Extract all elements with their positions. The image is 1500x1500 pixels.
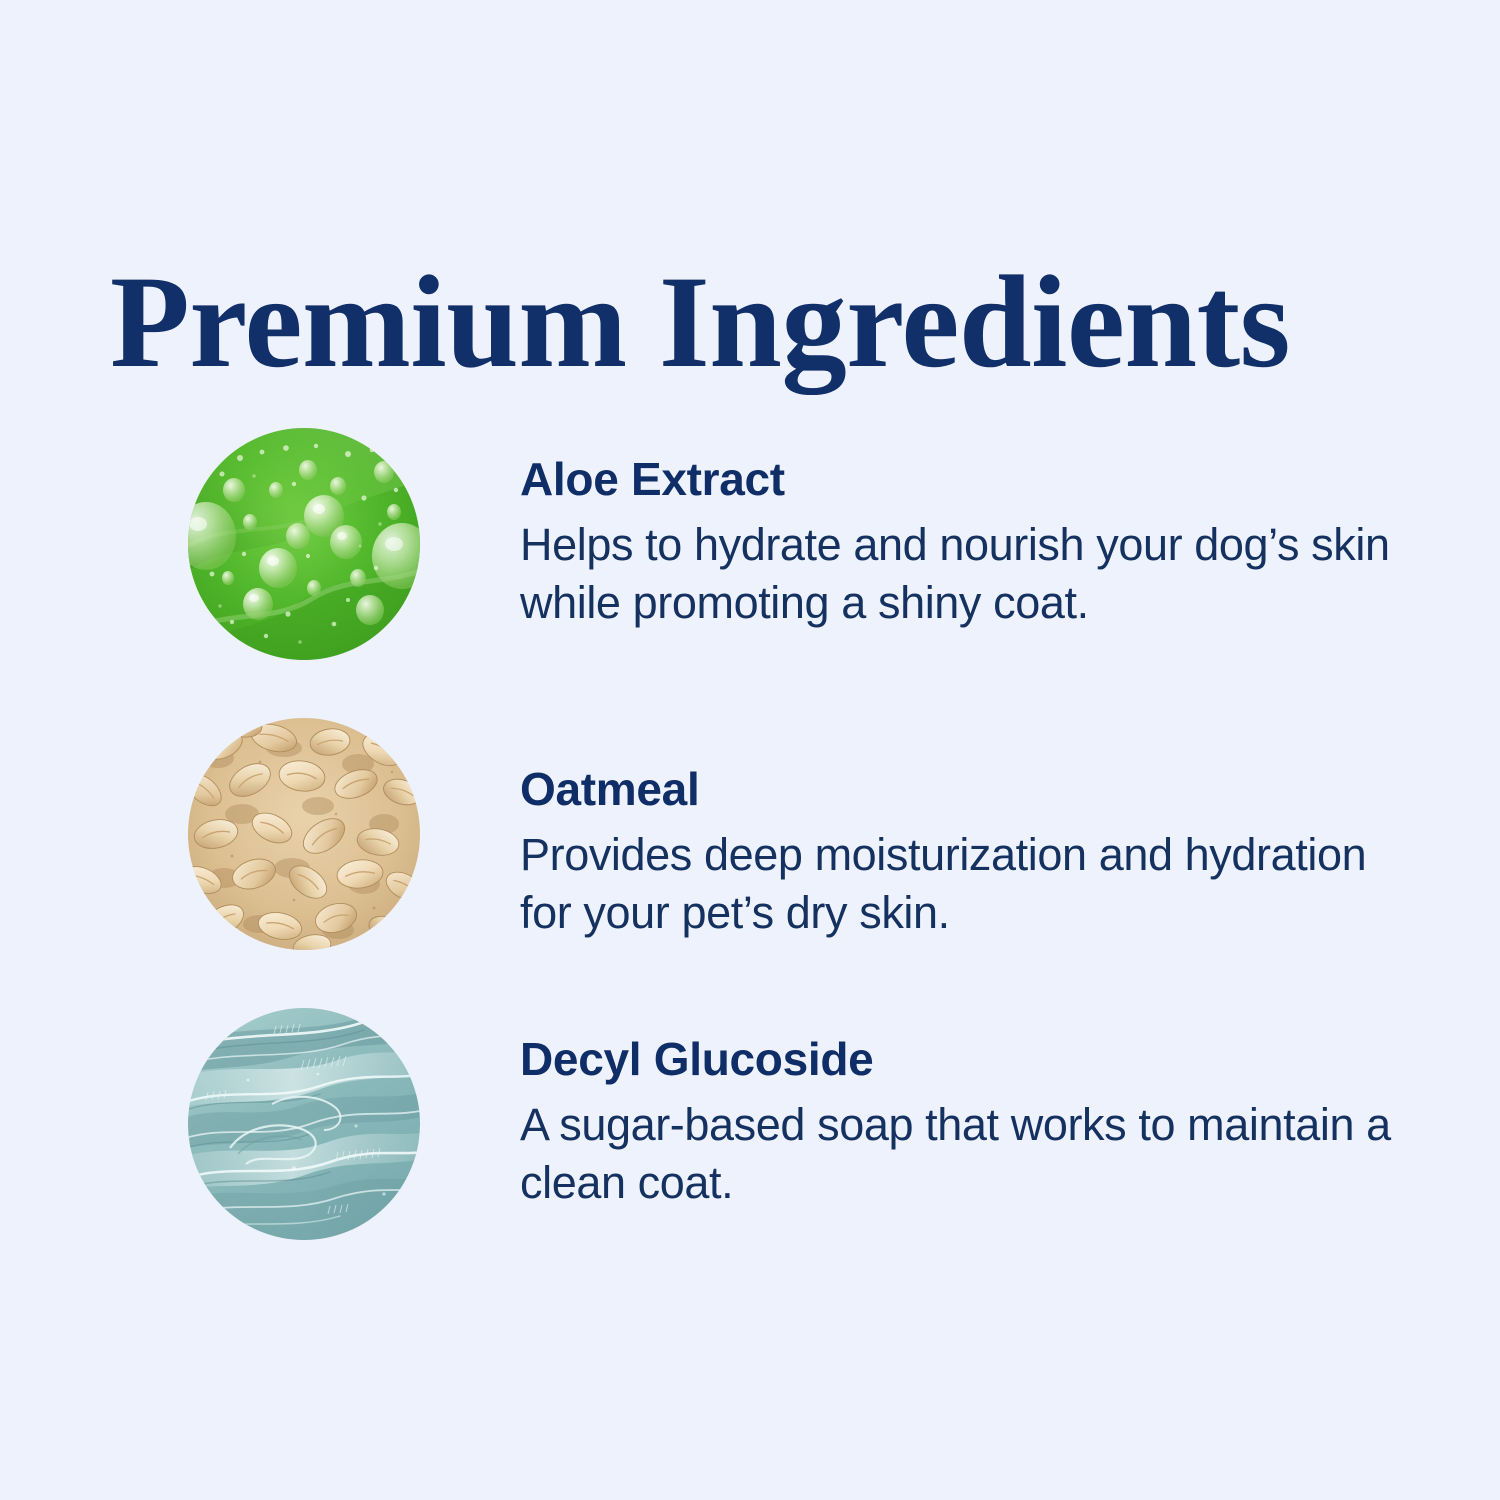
rolled-oats-photo xyxy=(188,718,420,950)
list-item: Decyl Glucoside A sugar-based soap that … xyxy=(0,1008,1500,1240)
ingredient-description: Provides deep moisturization and hydrati… xyxy=(520,826,1410,942)
ingredient-name: Aloe Extract xyxy=(520,456,1420,502)
page-title: Premium Ingredients xyxy=(110,256,1348,388)
list-item: Aloe Extract Helps to hydrate and nouris… xyxy=(0,428,1500,660)
ingredient-description: Helps to hydrate and nourish your dog’s … xyxy=(520,516,1410,632)
ingredient-text-block: Decyl Glucoside A sugar-based soap that … xyxy=(520,1036,1420,1212)
ingredient-name: Oatmeal xyxy=(520,766,1420,812)
aloe-leaf-water-droplets-photo xyxy=(188,428,420,660)
ingredient-list: Aloe Extract Helps to hydrate and nouris… xyxy=(0,428,1500,1240)
teal-gel-texture-photo xyxy=(188,1008,420,1240)
ingredient-description: A sugar-based soap that works to maintai… xyxy=(520,1096,1410,1212)
ingredient-name: Decyl Glucoside xyxy=(520,1036,1420,1082)
ingredient-text-block: Oatmeal Provides deep moisturization and… xyxy=(520,766,1420,942)
list-item: Oatmeal Provides deep moisturization and… xyxy=(0,718,1500,950)
premium-ingredients-page: Premium Ingredients xyxy=(0,0,1500,1500)
ingredient-text-block: Aloe Extract Helps to hydrate and nouris… xyxy=(520,456,1420,632)
